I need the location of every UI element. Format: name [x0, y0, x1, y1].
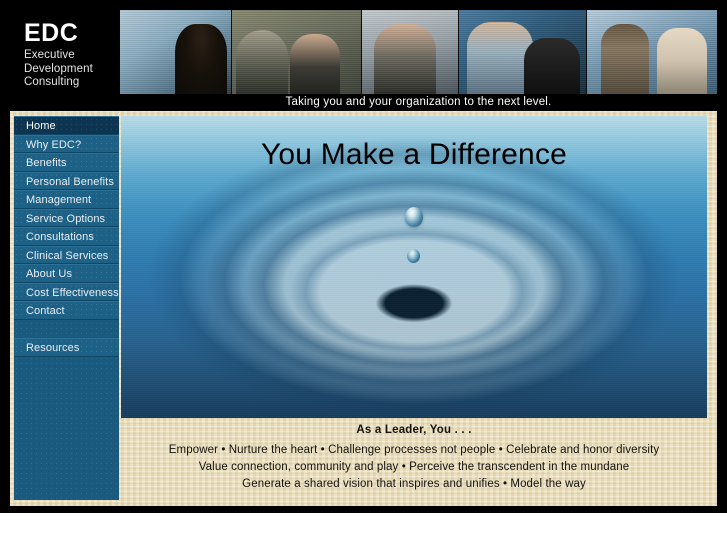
footer-leader-statement: As a Leader, You . . . Empower • Nurture…	[121, 424, 707, 493]
sidebar-item-label: Management	[26, 194, 91, 206]
document-frame: EDC Executive Development Consulting Tak…	[0, 0, 727, 513]
logo-acronym: EDC	[24, 20, 120, 46]
sidebar-item-label: Contact	[26, 305, 65, 317]
sidebar-item-personal-benefits[interactable]: Personal Benefits	[14, 172, 119, 191]
sidebar-item-about-us[interactable]: About Us	[14, 264, 119, 283]
footer-line: Generate a shared vision that inspires a…	[121, 476, 707, 493]
sidebar-item-clinical-services[interactable]: Clinical Services	[14, 246, 119, 265]
photo-grain-overlay	[362, 10, 457, 94]
logo[interactable]: EDC Executive Development Consulting	[10, 6, 120, 111]
logo-name-line-1: Executive	[24, 49, 120, 63]
header-photo-3	[362, 10, 458, 94]
sidebar-item-home[interactable]: Home	[14, 116, 119, 135]
page-title: You Make a Difference	[121, 138, 707, 172]
sidebar-item-why-edc[interactable]: Why EDC?	[14, 135, 119, 154]
footer-line: Empower • Nurture the heart • Challenge …	[121, 442, 707, 459]
sidebar-item-label: Resources	[26, 342, 79, 354]
page-root: EDC Executive Development Consulting Tak…	[0, 0, 727, 545]
sidebar-spacer	[14, 320, 119, 339]
site-tagline: Taking you and your organization to the …	[120, 94, 717, 111]
sidebar-item-label: Consultations	[26, 231, 94, 243]
sidebar-item-service-options[interactable]: Service Options	[14, 209, 119, 228]
sidebar-item-management[interactable]: Management	[14, 190, 119, 209]
footer-line: Value connection, community and play • P…	[121, 459, 707, 476]
photo-grain-overlay	[587, 10, 717, 94]
sidebar-item-cost-effectiveness[interactable]: Cost Effectiveness	[14, 283, 119, 302]
header-photo-4	[459, 10, 587, 94]
sidebar-item-contact[interactable]: Contact	[14, 301, 119, 320]
water-droplet-large-icon	[405, 207, 423, 227]
sidebar-item-label: Service Options	[26, 213, 105, 225]
photo-grain-overlay	[459, 10, 586, 94]
logo-name: Executive Development Consulting	[24, 49, 120, 90]
sidebar-item-label: About Us	[26, 268, 72, 280]
sidebar-item-label: Personal Benefits	[26, 176, 114, 188]
sidebar-item-label: Benefits	[26, 157, 67, 169]
header-photo-5	[587, 10, 717, 94]
sidebar-item-consultations[interactable]: Consultations	[14, 227, 119, 246]
site-header: EDC Executive Development Consulting Tak…	[10, 6, 717, 111]
hero-banner: You Make a Difference	[121, 116, 707, 418]
sidebar-item-label: Clinical Services	[26, 250, 108, 262]
header-photo-2	[232, 10, 362, 94]
water-droplet-small-icon	[407, 249, 420, 263]
photo-grain-overlay	[232, 10, 361, 94]
logo-name-line-2: Development	[24, 63, 120, 77]
logo-name-line-3: Consulting	[24, 76, 120, 90]
sidebar-item-label: Cost Effectiveness	[26, 287, 119, 299]
sidebar-item-resources[interactable]: Resources	[14, 338, 119, 357]
header-photo-1	[120, 10, 232, 94]
sidebar-item-label: Why EDC?	[26, 139, 81, 151]
footer-heading: As a Leader, You . . .	[121, 424, 707, 436]
sidebar-item-benefits[interactable]: Benefits	[14, 153, 119, 172]
sidebar-item-label: Home	[26, 120, 56, 132]
sidebar-navigation: HomeWhy EDC?BenefitsPersonal BenefitsMan…	[14, 116, 119, 500]
header-photo-band	[120, 10, 717, 94]
photo-grain-overlay	[120, 10, 231, 94]
